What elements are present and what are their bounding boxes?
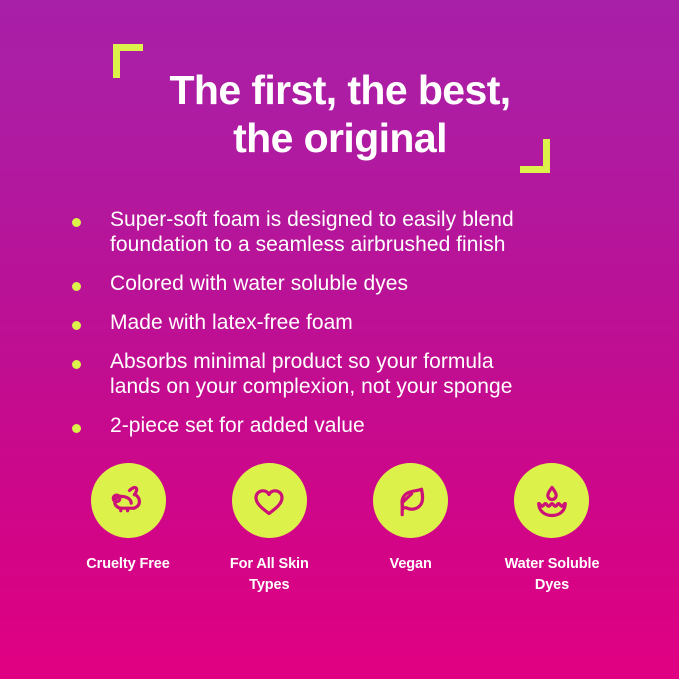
badge-for-all-skin-types: For All Skin Types xyxy=(211,463,327,596)
list-item: Colored with water soluble dyes xyxy=(72,271,632,296)
badge-circle xyxy=(232,463,307,538)
list-item: Super-soft foam is designed to easily bl… xyxy=(72,207,632,257)
badge-circle xyxy=(373,463,448,538)
badge-label: Water Soluble Dyes xyxy=(494,554,610,596)
leaf-icon xyxy=(390,480,432,522)
certification-badges: Cruelty Free For All Skin Types Vegan xyxy=(70,463,610,596)
list-item: 2-piece set for added value xyxy=(72,413,632,438)
rabbit-icon xyxy=(105,478,151,524)
product-feature-poster: The first, the best, the original Super-… xyxy=(0,0,679,679)
list-item: Made with latex-free foam xyxy=(72,310,632,335)
list-item-label: Super-soft foam is designed to easily bl… xyxy=(110,207,514,257)
badge-label: Cruelty Free xyxy=(86,554,169,575)
list-item-label: Absorbs minimal product so your formula … xyxy=(110,349,512,399)
badge-vegan: Vegan xyxy=(353,463,469,596)
list-item: Absorbs minimal product so your formula … xyxy=(72,349,632,399)
badge-label: Vegan xyxy=(390,554,432,575)
badge-circle xyxy=(91,463,166,538)
heart-icon xyxy=(247,479,291,523)
bullet-dot-icon xyxy=(72,321,81,330)
badge-circle xyxy=(514,463,589,538)
feature-list: Super-soft foam is designed to easily bl… xyxy=(72,207,632,452)
bullet-dot-icon xyxy=(72,218,81,227)
badge-label: For All Skin Types xyxy=(211,554,327,596)
badge-cruelty-free: Cruelty Free xyxy=(70,463,186,596)
water-drop-icon xyxy=(529,478,575,524)
page-title: The first, the best, the original xyxy=(70,66,610,162)
badge-water-soluble-dyes: Water Soluble Dyes xyxy=(494,463,610,596)
bullet-dot-icon xyxy=(72,282,81,291)
bullet-dot-icon xyxy=(72,360,81,369)
list-item-label: Colored with water soluble dyes xyxy=(110,271,408,296)
list-item-label: Made with latex-free foam xyxy=(110,310,353,335)
list-item-label: 2-piece set for added value xyxy=(110,413,365,438)
bullet-dot-icon xyxy=(72,424,81,433)
